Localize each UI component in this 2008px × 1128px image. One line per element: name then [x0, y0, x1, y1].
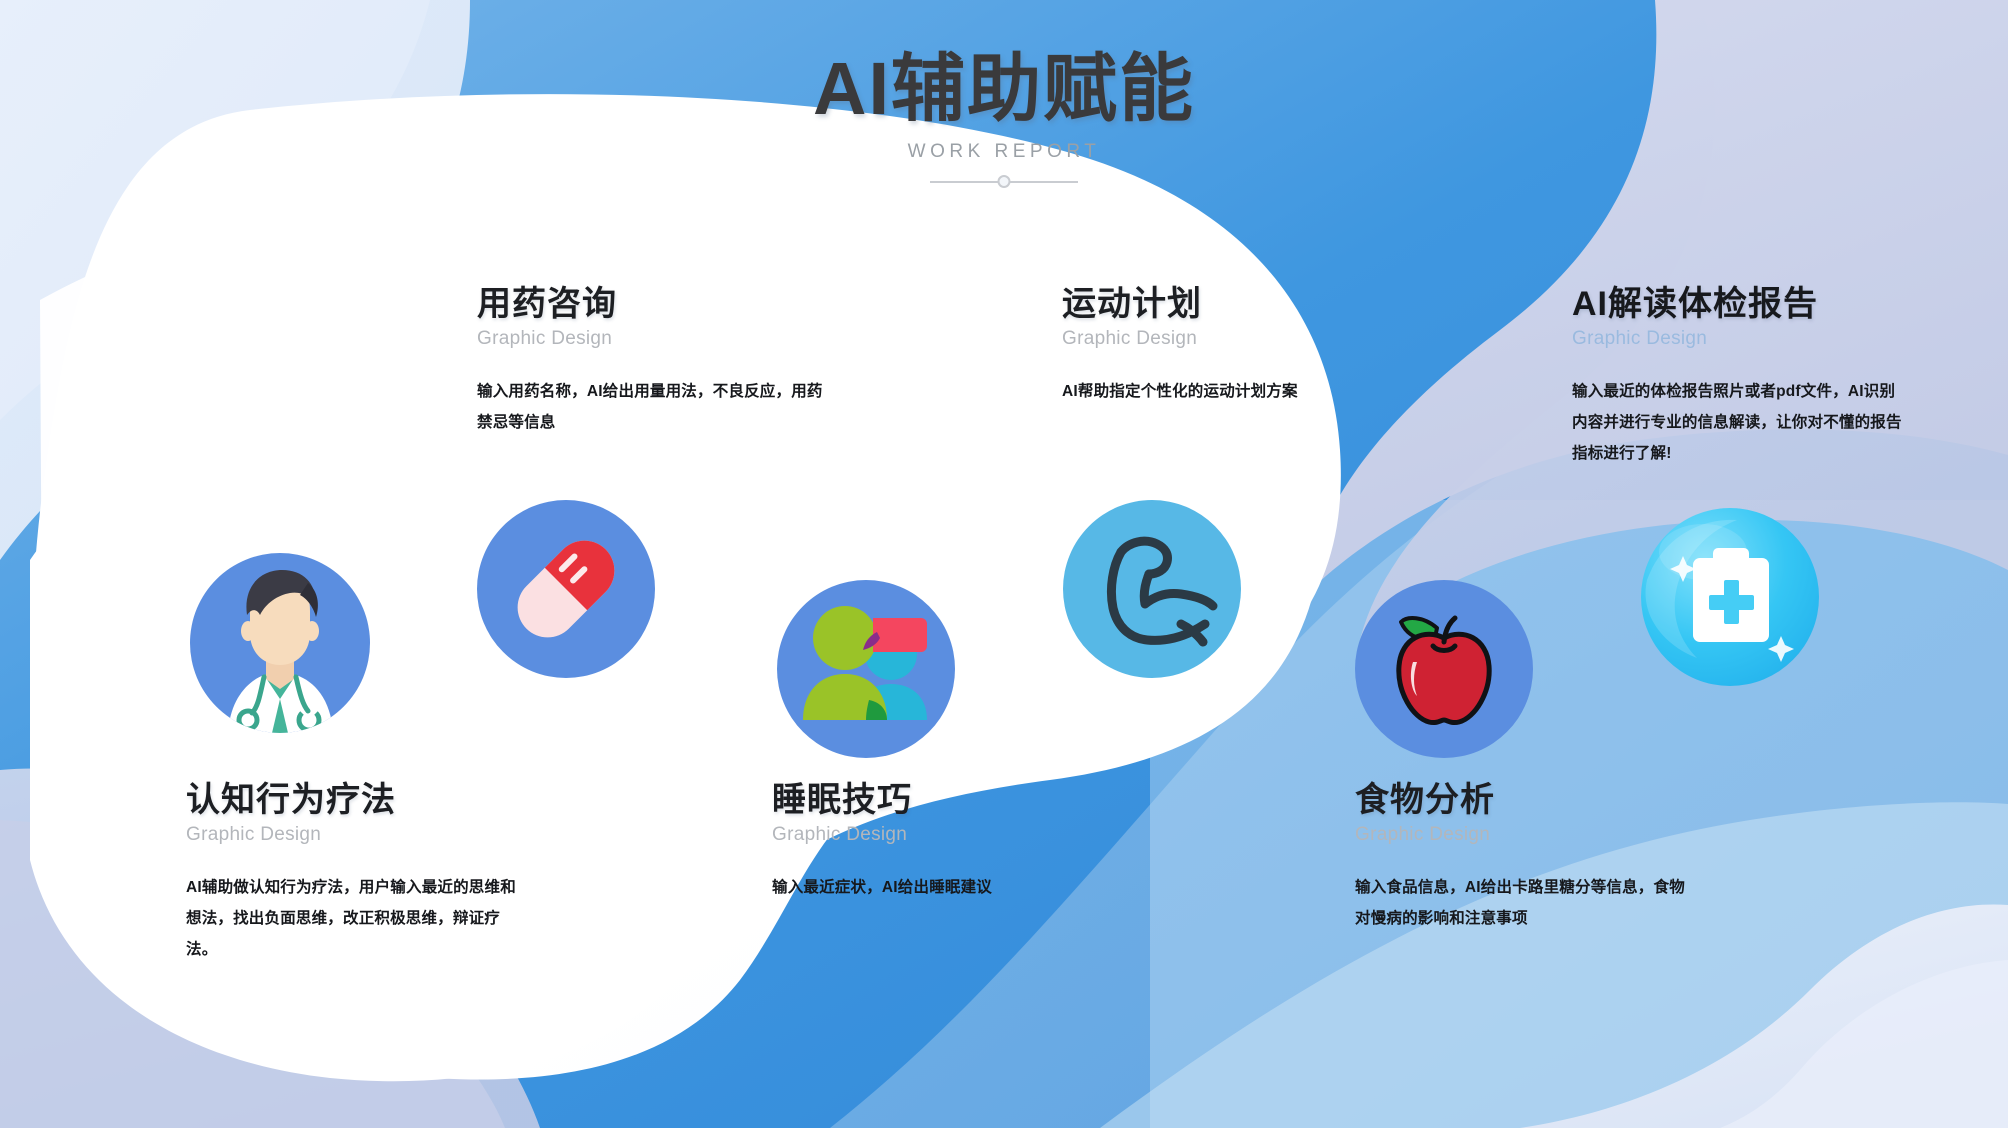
- feature-cognitive-behavior-therapy[interactable]: 认知行为疗法 Graphic Design AI辅助做认知行为疗法，用户输入最近…: [186, 780, 516, 965]
- medical-clipboard-icon[interactable]: [1641, 508, 1819, 686]
- feature-food-analysis[interactable]: 食物分析 Graphic Design 输入食品信息，AI给出卡路里糖分等信息，…: [1355, 780, 1695, 934]
- apple-icon[interactable]: [1355, 580, 1533, 758]
- slide-canvas: AI辅助赋能 WORK REPORT 用药咨询 Graphic Design 输…: [0, 0, 2008, 1128]
- feature-subtitle: Graphic Design: [186, 824, 516, 846]
- feature-description: AI辅助做认知行为疗法，用户输入最近的思维和想法，找出负面思维，改正积极思维，辩…: [186, 872, 516, 965]
- two-people-talking-icon[interactable]: [777, 580, 955, 758]
- feature-exercise-plan[interactable]: 运动计划 Graphic Design AI帮助指定个性化的运动计划方案: [1062, 284, 1362, 407]
- feature-title: 睡眠技巧: [772, 780, 1092, 820]
- feature-subtitle: Graphic Design: [1572, 328, 1902, 350]
- feature-subtitle: Graphic Design: [1062, 328, 1362, 350]
- pill-icon[interactable]: [477, 500, 655, 678]
- page-subtitle: WORK REPORT: [0, 141, 2008, 163]
- muscle-arm-icon[interactable]: [1063, 500, 1241, 678]
- title-divider: [930, 175, 1078, 189]
- feature-sleep-tips[interactable]: 睡眠技巧 Graphic Design 输入最近症状，AI给出睡眠建议: [772, 780, 1092, 903]
- feature-description: AI帮助指定个性化的运动计划方案: [1062, 376, 1362, 407]
- feature-description: 输入最近的体检报告照片或者pdf文件，AI识别内容并进行专业的信息解读，让你对不…: [1572, 376, 1902, 469]
- feature-description: 输入用药名称，AI给出用量用法，不良反应，用药禁忌等信息: [477, 376, 837, 438]
- feature-description: 输入食品信息，AI给出卡路里糖分等信息，食物对慢病的影响和注意事项: [1355, 872, 1695, 934]
- title-block: AI辅助赋能 WORK REPORT: [0, 48, 2008, 189]
- feature-title: 用药咨询: [477, 284, 837, 324]
- feature-ai-report-reading[interactable]: AI解读体检报告 Graphic Design 输入最近的体检报告照片或者pdf…: [1572, 284, 1902, 469]
- divider-dot: [998, 175, 1011, 188]
- feature-subtitle: Graphic Design: [772, 824, 1092, 846]
- feature-title: 运动计划: [1062, 284, 1362, 324]
- feature-title: 食物分析: [1355, 780, 1695, 820]
- feature-subtitle: Graphic Design: [1355, 824, 1695, 846]
- feature-description: 输入最近症状，AI给出睡眠建议: [772, 872, 1092, 903]
- feature-medication-consult[interactable]: 用药咨询 Graphic Design 输入用药名称，AI给出用量用法，不良反应…: [477, 284, 837, 438]
- feature-subtitle: Graphic Design: [477, 328, 837, 350]
- feature-title: AI解读体检报告: [1572, 284, 1902, 324]
- doctor-avatar-icon[interactable]: [190, 553, 370, 733]
- feature-title: 认知行为疗法: [186, 780, 516, 820]
- page-title: AI辅助赋能: [0, 48, 2008, 131]
